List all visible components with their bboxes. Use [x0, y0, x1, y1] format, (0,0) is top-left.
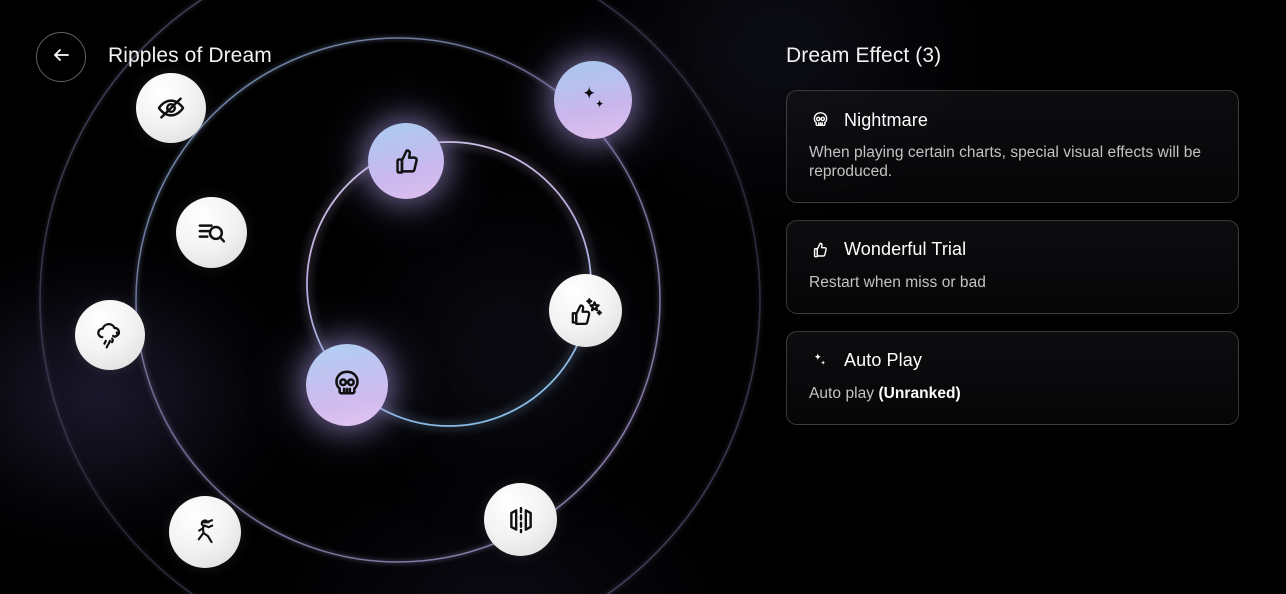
eye-off-icon	[154, 91, 188, 125]
effect-card-nightmare[interactable]: Nightmare When playing certain charts, s…	[786, 90, 1239, 203]
orbit-rings	[0, 0, 790, 594]
orbit-node-nightmare[interactable]	[306, 344, 388, 426]
orbit-node-hidden[interactable]	[136, 73, 206, 143]
thumbs-up-icon	[390, 145, 423, 178]
page-title: Ripples of Dream	[108, 44, 272, 68]
panel-title: Dream Effect (3)	[786, 44, 1239, 68]
card-description: Restart when miss or bad	[809, 274, 1216, 293]
card-title: Wonderful Trial	[844, 239, 966, 260]
orbit-node-perfect-trial[interactable]	[549, 274, 622, 347]
effect-card-wonderful-trial[interactable]: Wonderful Trial Restart when miss or bad	[786, 220, 1239, 314]
ninja-icon	[188, 515, 222, 549]
thumbs-up-sparkle-icon	[568, 293, 604, 329]
mirror-flip-icon	[504, 503, 538, 537]
back-button[interactable]	[36, 32, 86, 82]
orbit-node-wonderful-trial[interactable]	[368, 123, 444, 199]
skull-icon	[329, 367, 365, 403]
rain-cloud-icon	[93, 318, 127, 352]
card-title: Nightmare	[844, 110, 928, 131]
card-description-text: Auto play	[809, 385, 878, 402]
card-description-emphasis: (Unranked)	[878, 385, 960, 402]
card-description: Auto play (Unranked)	[809, 385, 1216, 404]
card-header: Auto Play	[809, 350, 1216, 372]
arrow-left-icon	[49, 43, 73, 72]
orbit-node-rain[interactable]	[75, 300, 145, 370]
card-header: Nightmare	[809, 109, 1216, 131]
effect-card-auto-play[interactable]: Auto Play Auto play (Unranked)	[786, 331, 1239, 425]
thumbs-up-icon	[809, 239, 831, 261]
sparkles-icon	[574, 81, 612, 119]
card-header: Wonderful Trial	[809, 239, 1216, 261]
card-title: Auto Play	[844, 350, 922, 371]
skull-icon	[809, 109, 831, 131]
orbit-node-auto-play[interactable]	[554, 61, 632, 139]
card-description: When playing certain charts, special vis…	[809, 144, 1216, 182]
list-search-icon	[195, 216, 228, 249]
orbit-stage	[0, 0, 790, 594]
card-description-text: Restart when miss or bad	[809, 274, 986, 291]
orbit-node-dance[interactable]	[169, 496, 241, 568]
orbit-node-mirror[interactable]	[484, 483, 557, 556]
card-description-text: When playing certain charts, special vis…	[809, 144, 1201, 180]
dream-effect-panel: Dream Effect (3) Nightmare When playing …	[786, 0, 1286, 594]
sparkles-icon	[809, 350, 831, 372]
orbit-node-chart-search[interactable]	[176, 197, 247, 268]
dream-effect-screen: Ripples of Dream Dream Effect (3) Nightm…	[0, 0, 1286, 594]
